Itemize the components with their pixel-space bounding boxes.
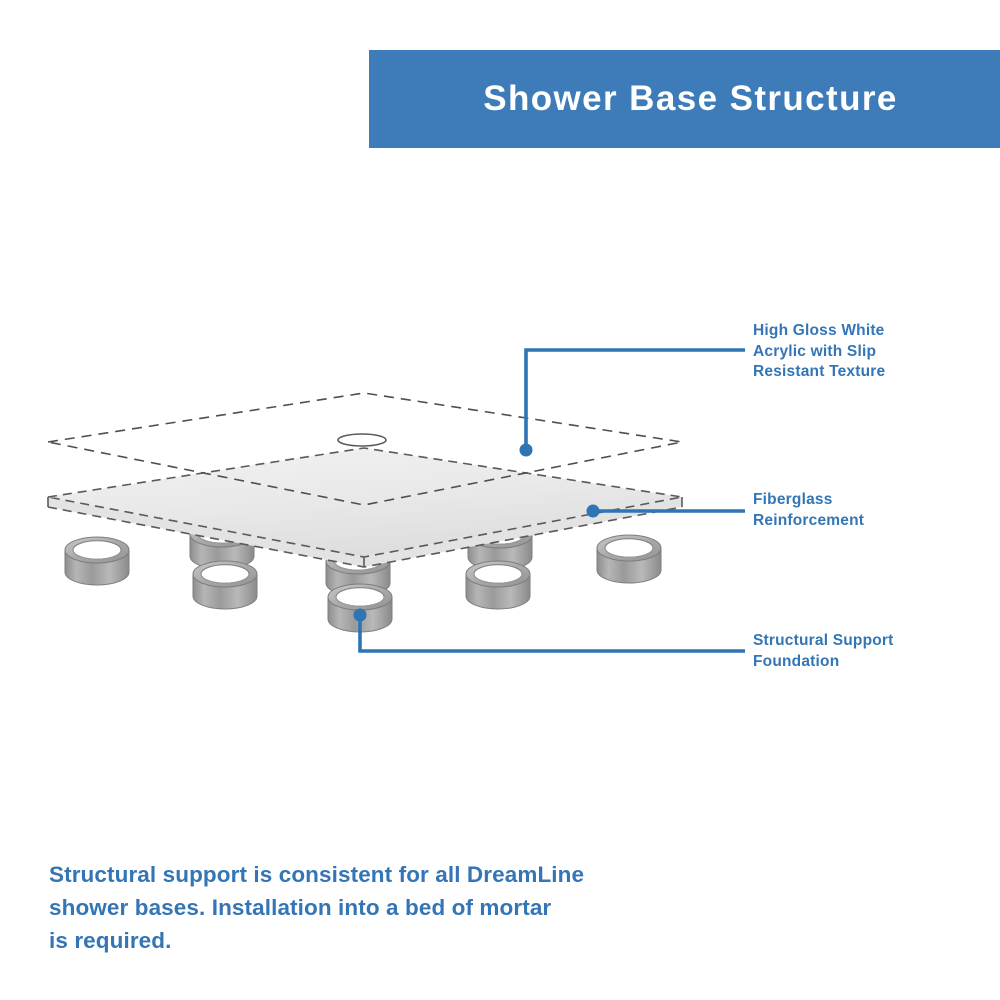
page-title: Shower Base Structure	[483, 79, 898, 119]
leader-dot-support	[354, 609, 367, 622]
leader-acrylic	[526, 350, 745, 450]
leader-dot-acrylic	[520, 444, 533, 457]
support-ring	[65, 537, 129, 585]
support-ring	[466, 561, 530, 609]
leader-dot-fiberglass	[587, 505, 600, 518]
drain-opening	[338, 434, 386, 446]
callout-label-support: Structural Support Foundation	[753, 631, 983, 672]
support-ring	[193, 561, 257, 609]
fiberglass-slab	[48, 448, 682, 567]
callout-label-fiberglass: Fiberglass Reinforcement	[753, 490, 983, 531]
diagram-canvas: Shower Base Structure High Gloss White A…	[0, 0, 1000, 1000]
callout-label-acrylic: High Gloss White Acrylic with Slip Resis…	[753, 321, 983, 383]
title-banner: Shower Base Structure	[369, 50, 1000, 148]
support-ring	[597, 535, 661, 583]
footer-caption: Structural support is consistent for all…	[49, 858, 709, 957]
leader-support	[360, 615, 745, 651]
